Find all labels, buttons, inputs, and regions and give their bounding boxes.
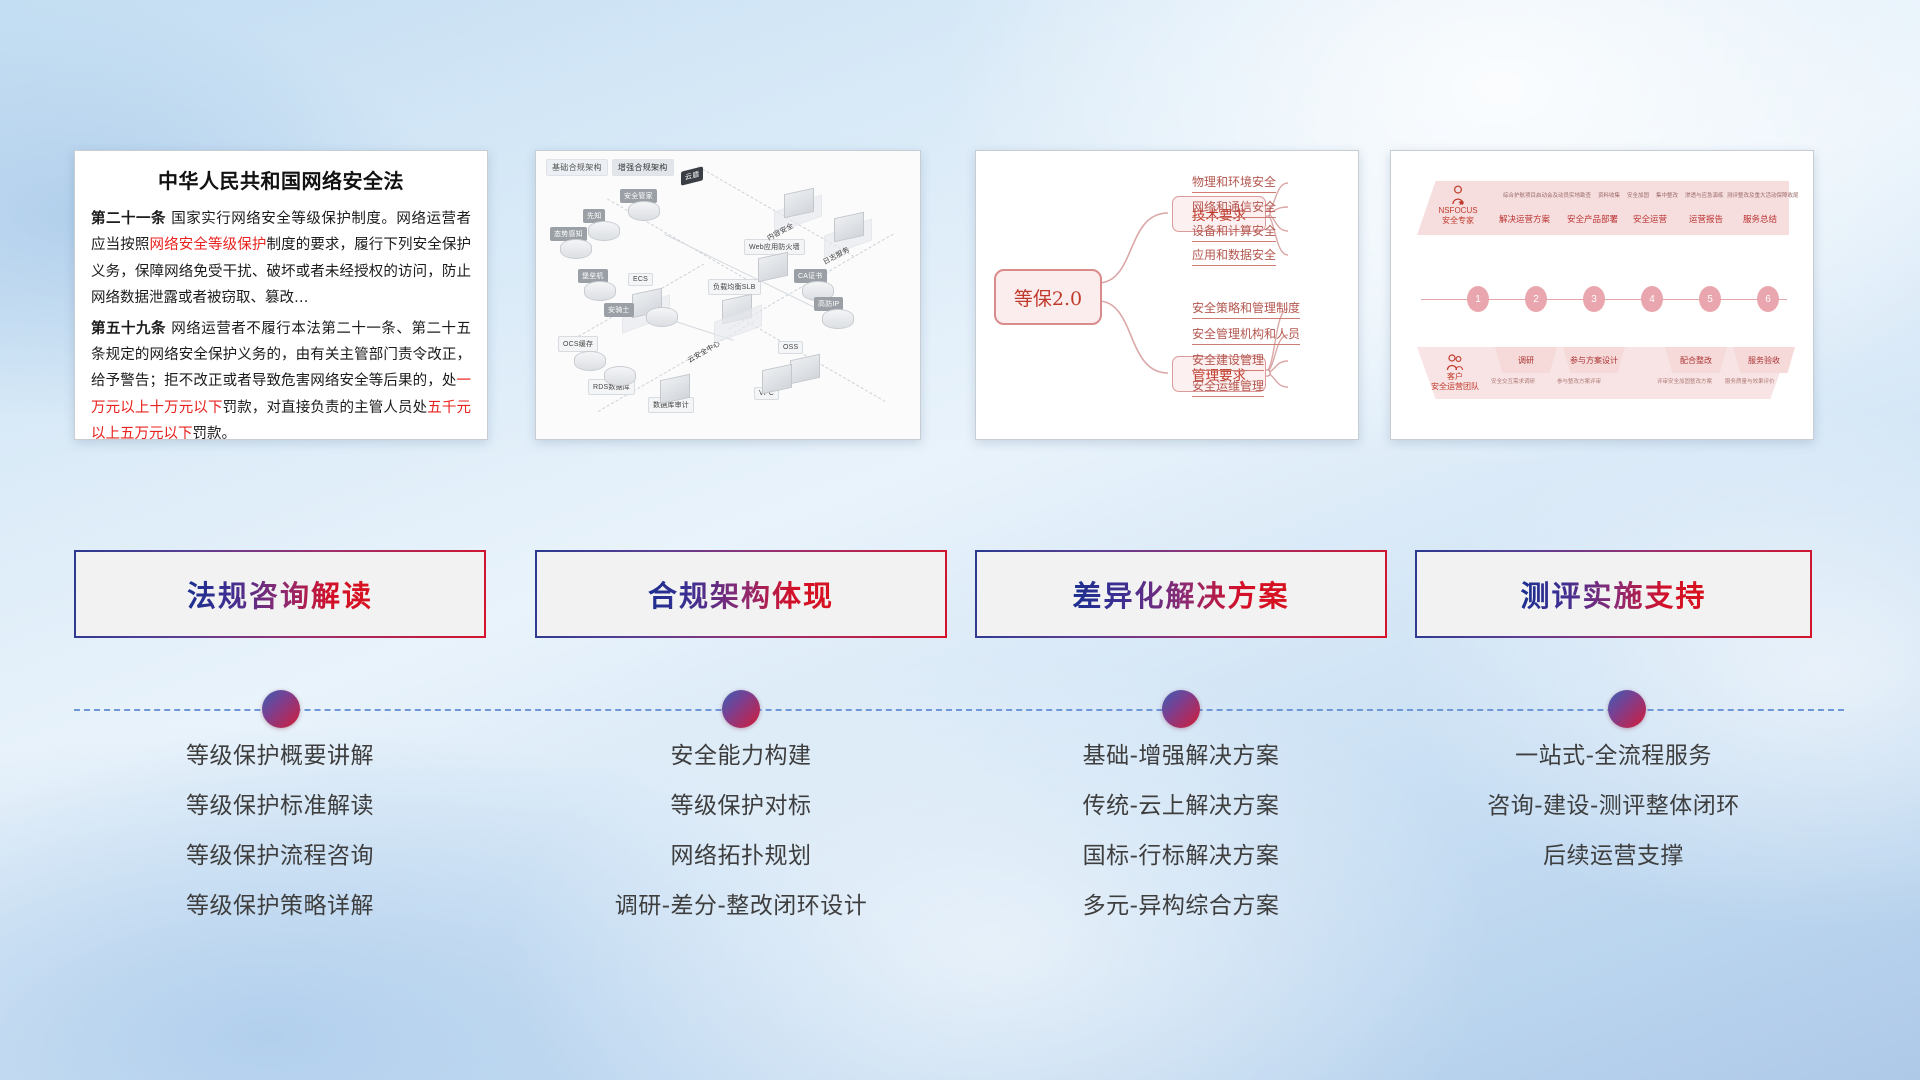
law-article-21-label: 第二十一条: [91, 211, 166, 227]
mindmap-leaf-construction-mgmt: 安全建设管理: [1192, 351, 1264, 371]
timeline-dashed-line: [74, 709, 1844, 711]
timeline-track: [74, 690, 1844, 730]
law-article-59-text3: 罚款。: [193, 426, 237, 440]
people-icon: [1446, 353, 1464, 371]
nsfocus-step-3: 3: [1583, 286, 1605, 312]
list-item: 调研-差分-整改闭环设计: [535, 895, 947, 918]
nsfocus-step-5: 5: [1699, 286, 1721, 312]
law-title: 中华人民共和国网络安全法: [91, 165, 471, 194]
card-dengbao-mindmap[interactable]: 等保2.0 技术要求 物理和环境安全 网络和通信安全 设备和计算安全 应用和数据…: [975, 150, 1359, 440]
arch-node-oss: OSS: [778, 341, 803, 354]
law-article-59: 第五十九条 网络运营者不履行本法第二十一条、第二十五条规定的网络安全保护义务的，…: [91, 316, 471, 441]
nsfocus-column-0: 解决运营方案: [1499, 213, 1550, 225]
card-nsfocus-service-timeline[interactable]: NSFOCUS 安全专家 综合护航项目启动会及动员 实地勘查 资料收集 安全加固…: [1390, 150, 1814, 440]
list-item: 国标-行标解决方案: [975, 845, 1387, 868]
nsfocus-column-3: 运营报告: [1689, 213, 1723, 225]
list-item: 传统-云上解决方案: [975, 795, 1387, 818]
nsfocus-bubble-sub-3: 服务质量与效果评价: [1725, 377, 1775, 385]
nsfocus-customer-line2: 安全运营团队: [1431, 382, 1479, 391]
law-article-21: 第二十一条 国家实行网络安全等级保护制度。网络运营者应当按照网络安全等级保护制度…: [91, 206, 471, 312]
nsfocus-header-3: 安全加固: [1627, 191, 1649, 199]
nsfocus-header-5: 渗透与应急演练: [1685, 191, 1724, 199]
section-title-label-4: 测评实施支持: [1520, 573, 1706, 615]
mindmap-leaf-policy-system: 安全策略和管理制度: [1192, 299, 1300, 319]
list-item: 安全能力构建: [535, 745, 947, 768]
mindmap-root-node[interactable]: 等保2.0: [994, 269, 1102, 325]
nsfocus-step-4: 4: [1641, 286, 1663, 312]
arch-node-slb: 负载均衡SLB: [708, 279, 761, 295]
nsfocus-bubble-sub-1: 参与整改方案评审: [1557, 377, 1601, 385]
nsfocus-header-4: 集中整改: [1656, 191, 1678, 199]
nsfocus-customer-logo: 客户 安全运营团队: [1427, 353, 1483, 392]
mindmap-leaf-network-comm: 网络和通信安全: [1192, 198, 1276, 218]
law-article-59-text2: 罚款，对直接负责的主管人员处: [223, 400, 428, 416]
section-title-label-1: 法规咨询解读: [187, 573, 373, 615]
arch-node-ecs: ECS: [628, 273, 653, 286]
nsfocus-customer-line1: 客户: [1447, 372, 1463, 381]
section-items-4: 一站式-全流程服务 咨询-建设-测评整体闭环 后续运营支撑: [1415, 745, 1812, 895]
section-titles-row: 法规咨询解读 合规架构体现 差异化解决方案 测评实施支持: [0, 550, 1920, 640]
nsfocus-column-1: 安全产品部署: [1567, 213, 1618, 225]
section-items-2: 安全能力构建 等级保护对标 网络拓扑规划 调研-差分-整改闭环设计: [535, 745, 947, 945]
arch-node-ocs-cache: OCS缓存: [558, 336, 598, 352]
section-items-3: 基础-增强解决方案 传统-云上解决方案 国标-行标解决方案 多元-异构综合方案: [975, 745, 1387, 945]
list-item: 一站式-全流程服务: [1415, 745, 1812, 768]
list-item: 多元-异构综合方案: [975, 895, 1387, 918]
timeline-dot-3[interactable]: [1162, 690, 1200, 728]
nsfocus-header-2: 资料收集: [1598, 191, 1620, 199]
nsfocus-bubble-3: 服务验收: [1733, 347, 1795, 373]
list-item: 等级保护流程咨询: [74, 845, 486, 868]
mindmap-leaf-app-data: 应用和数据安全: [1192, 246, 1276, 266]
person-star-icon: [1449, 185, 1467, 205]
mindmap-leaf-physical-env: 物理和环境安全: [1192, 173, 1276, 193]
list-item: 基础-增强解决方案: [975, 745, 1387, 768]
card-cybersecurity-law[interactable]: 中华人民共和国网络安全法 第二十一条 国家实行网络安全等级保护制度。网络运营者应…: [74, 150, 488, 440]
nsfocus-bubble-0: 调研: [1495, 347, 1557, 373]
list-item: 后续运营支撑: [1415, 845, 1812, 868]
list-item: 网络拓扑规划: [535, 845, 947, 868]
law-article-59-label: 第五十九条: [91, 321, 166, 337]
timeline-dot-4[interactable]: [1608, 690, 1646, 728]
section-items-row: 等级保护概要讲解 等级保护标准解读 等级保护流程咨询 等级保护策略详解 安全能力…: [0, 745, 1920, 985]
section-title-box-2[interactable]: 合规架构体现: [535, 550, 947, 638]
nsfocus-header-6: 测评整改及重大活动保障收尾: [1727, 191, 1799, 199]
list-item: 等级保护策略详解: [74, 895, 486, 918]
list-item: 等级保护对标: [535, 795, 947, 818]
nsfocus-step-2: 2: [1525, 286, 1547, 312]
section-title-box-4[interactable]: 测评实施支持: [1415, 550, 1812, 638]
nsfocus-column-4: 服务总结: [1743, 213, 1777, 225]
section-title-box-1[interactable]: 法规咨询解读: [74, 550, 486, 638]
nsfocus-logo-line2: 安全专家: [1442, 216, 1474, 225]
nsfocus-bubble-2: 配合整改: [1665, 347, 1727, 373]
section-title-box-3[interactable]: 差异化解决方案: [975, 550, 1387, 638]
section-title-label-3: 差异化解决方案: [1072, 573, 1289, 615]
mindmap-leaf-org-personnel: 安全管理机构和人员: [1192, 325, 1300, 345]
architecture-tabs: 基础合规架构 增强合规架构: [546, 159, 674, 176]
nsfocus-header-0: 综合护航项目启动会及动员: [1503, 191, 1569, 199]
architecture-tab-enhanced[interactable]: 增强合规架构: [612, 159, 674, 176]
nsfocus-bubble-sub-2: 评审安全加固整改方案: [1657, 377, 1712, 385]
arch-node-cloud-shield: 云盾: [681, 166, 703, 186]
nsfocus-step-6: 6: [1757, 286, 1779, 312]
timeline-dot-2[interactable]: [722, 690, 760, 728]
nsfocus-bubble-1: 参与方案设计: [1563, 347, 1625, 373]
mindmap-leaf-ops-mgmt: 安全运维管理: [1192, 377, 1264, 397]
list-item: 咨询-建设-测评整体闭环: [1415, 795, 1812, 818]
arch-node-waf: Web应用防火墙: [744, 239, 805, 255]
timeline-dot-1[interactable]: [262, 690, 300, 728]
nsfocus-bubble-sub-0: 安全交互需求调研: [1491, 377, 1535, 385]
list-item: 等级保护标准解读: [74, 795, 486, 818]
list-item: 等级保护概要讲解: [74, 745, 486, 768]
law-article-21-highlight: 网络安全等级保护: [149, 237, 266, 253]
arch-node-anqishi: 安骑士: [604, 303, 634, 317]
section-title-label-2: 合规架构体现: [648, 573, 834, 615]
preview-cards-row: 中华人民共和国网络安全法 第二十一条 国家实行网络安全等级保护制度。网络运营者应…: [0, 150, 1920, 450]
nsfocus-step-1: 1: [1467, 286, 1489, 312]
nsfocus-expert-logo: NSFOCUS 安全专家: [1427, 185, 1489, 226]
section-items-1: 等级保护概要讲解 等级保护标准解读 等级保护流程咨询 等级保护策略详解: [74, 745, 486, 945]
nsfocus-column-2: 安全运营: [1633, 213, 1667, 225]
arch-node-cloud-security-center: 云安全中心: [686, 339, 722, 366]
nsfocus-logo-line1: NSFOCUS: [1438, 206, 1477, 215]
nsfocus-header-1: 实地勘查: [1569, 191, 1591, 199]
mindmap-leaf-device-compute: 设备和计算安全: [1192, 222, 1276, 242]
card-compliance-architecture[interactable]: 基础合规架构 增强合规架构 态势感知 先知 安全管家 云盾: [535, 150, 921, 440]
architecture-tab-basic[interactable]: 基础合规架构: [546, 159, 608, 176]
